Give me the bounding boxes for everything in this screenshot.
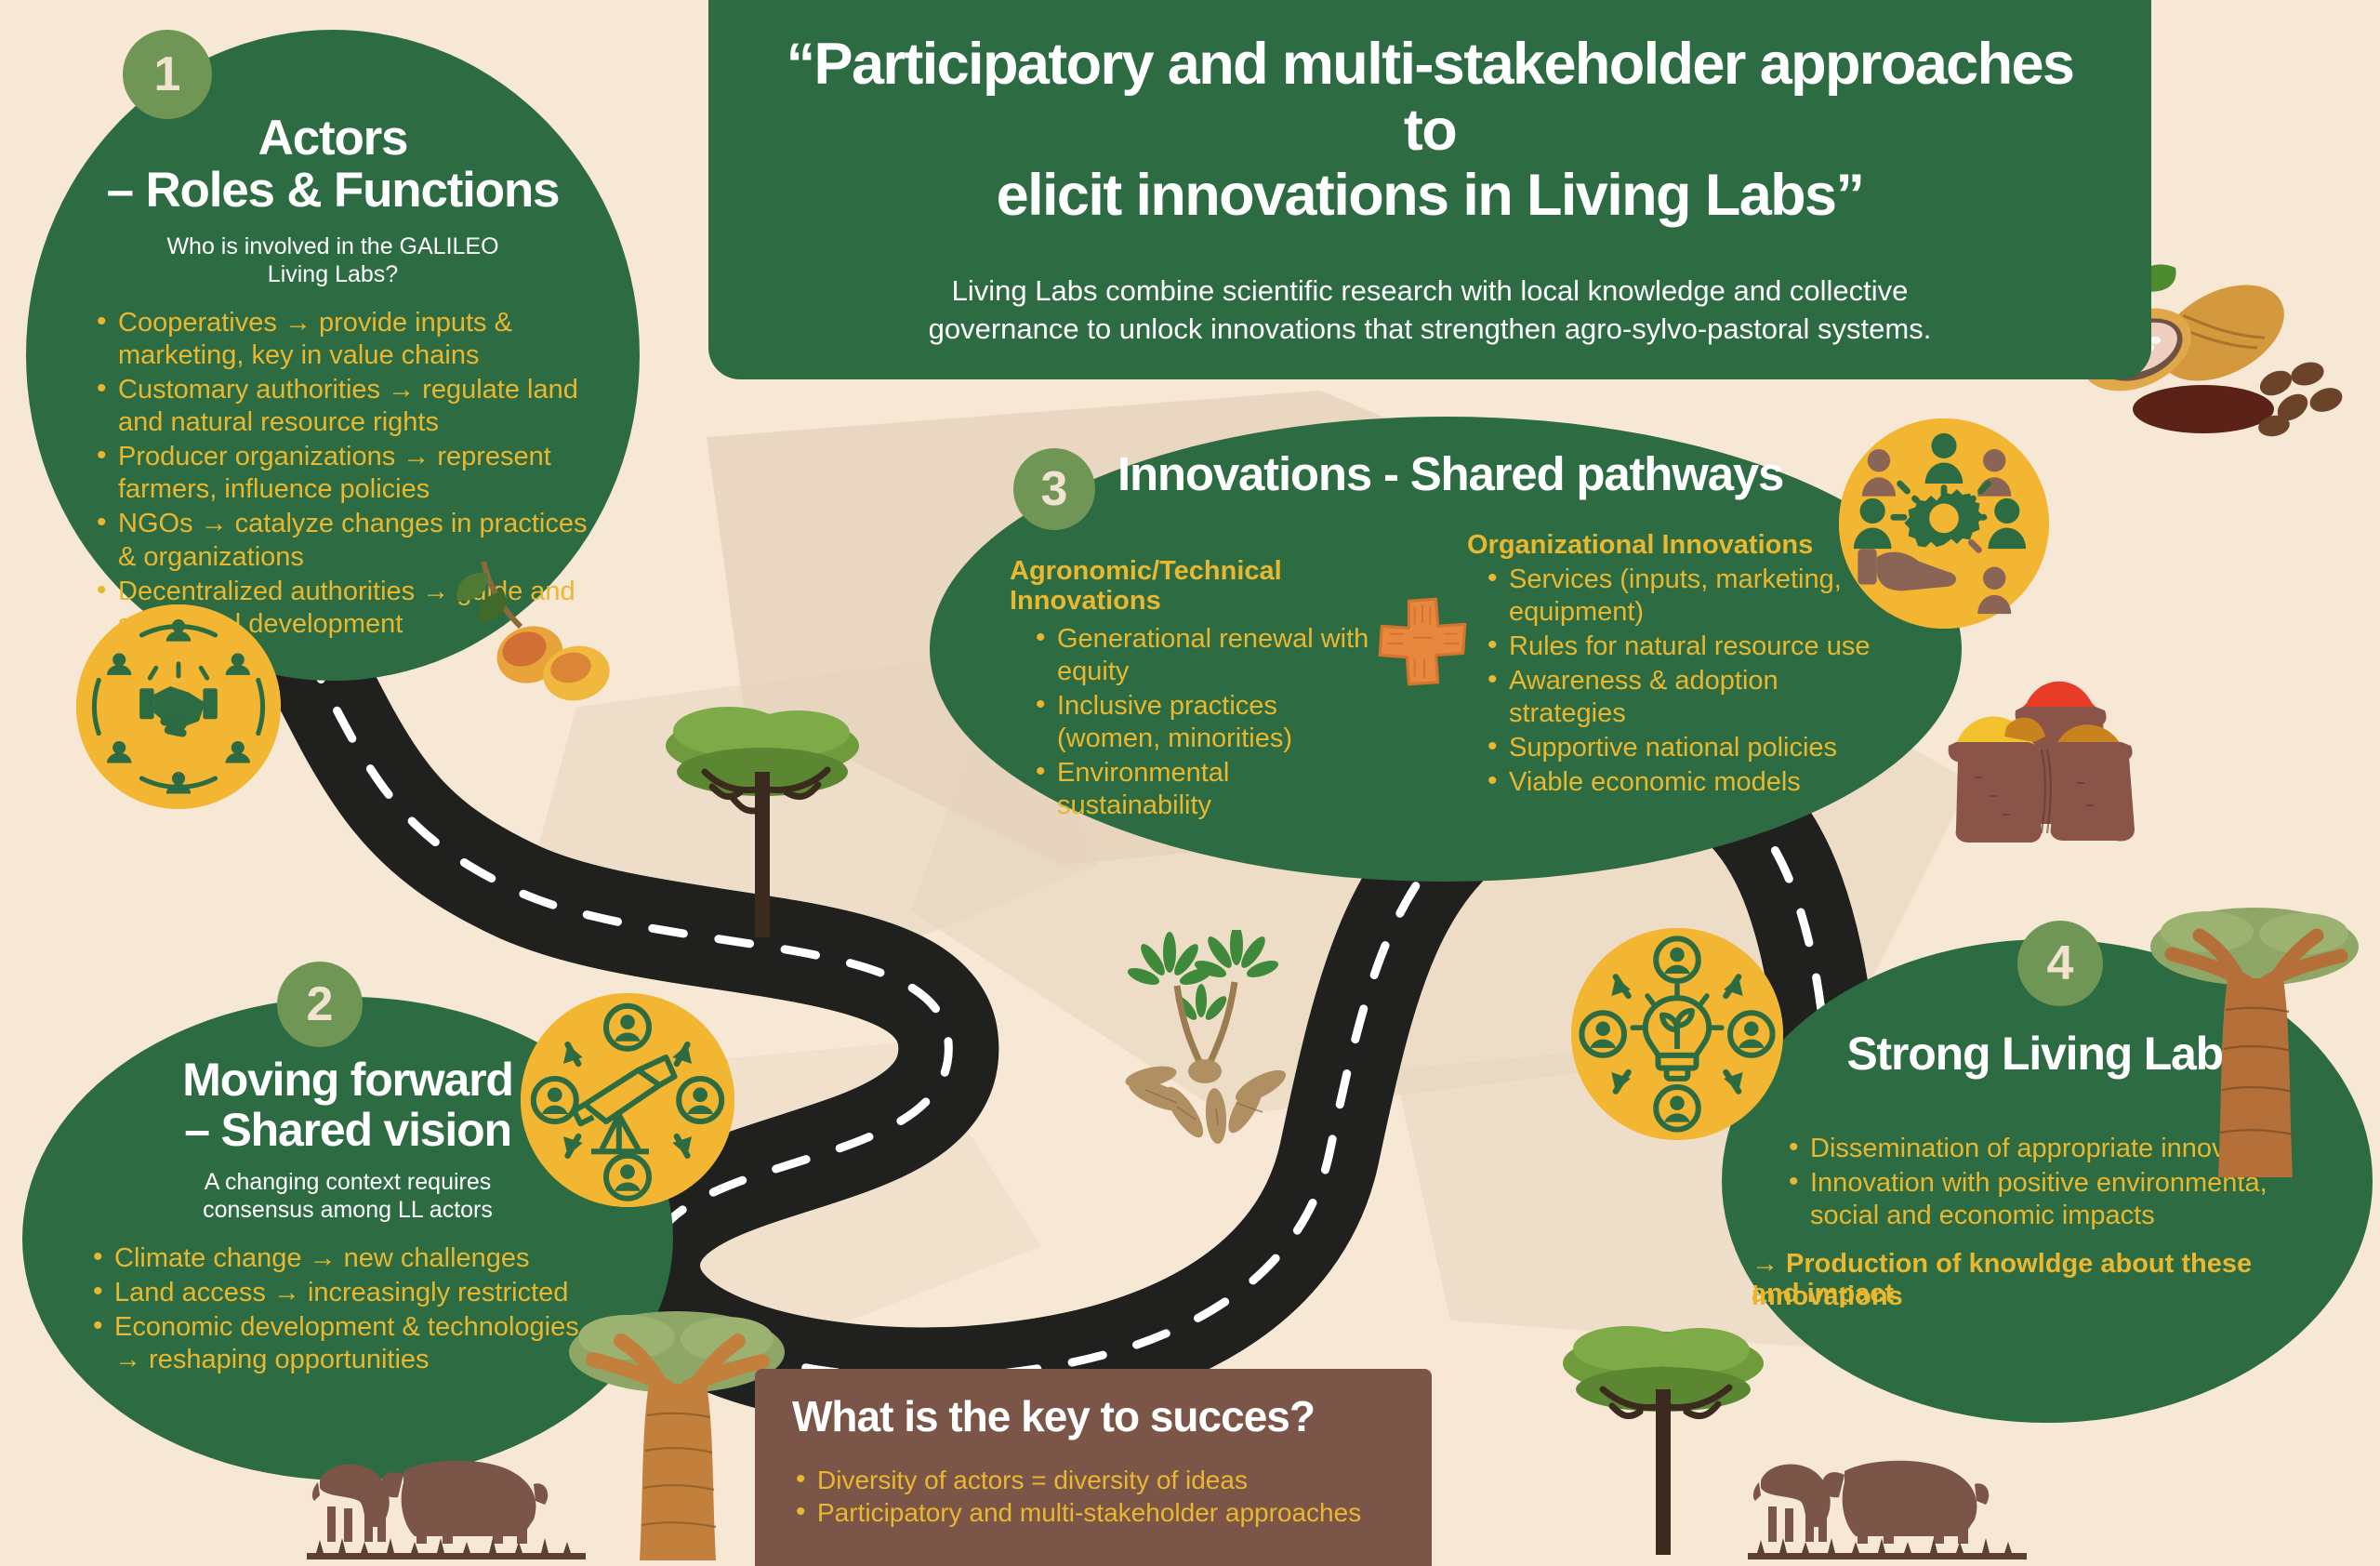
list-item: Climate change → new challenges — [89, 1242, 610, 1275]
header-subtitle-line2: governance to unlock innovations that st… — [766, 310, 2094, 348]
section-4-highlight-line2: and impact — [1752, 1278, 2347, 1310]
list-item: Customary authorities → regulate land an… — [93, 374, 595, 439]
list-item: Environmental sustainability — [1032, 757, 1376, 822]
handshake-network-icon — [76, 604, 281, 809]
list-item: Cooperatives → provide inputs & marketin… — [93, 307, 595, 372]
section-4-number-badge: 4 — [2017, 921, 2103, 1006]
section-3-left-points: Generational renewal with equity Inclusi… — [1032, 623, 1376, 824]
section-3-right-points: Services (inputs, marketing, equipment) … — [1484, 564, 1874, 802]
list-item: Participatory and multi-stakeholder appr… — [792, 1497, 1395, 1529]
key-box-title: What is the key to succes? — [792, 1393, 1395, 1440]
section-3-number-badge: 3 — [1013, 448, 1095, 530]
list-item: Services (inputs, marketing, equipment) — [1484, 564, 1874, 629]
section-1-number-badge: 1 — [123, 30, 212, 119]
baobab-tree-illustration — [2138, 893, 2371, 1181]
list-item: Economic development & technologies → re… — [89, 1311, 610, 1376]
header-banner: “Participatory and multi-stakeholder app… — [708, 0, 2151, 379]
cattle-grazing-illustration — [1748, 1443, 2027, 1566]
section-1-title-line2: – Roles & Functions — [26, 164, 640, 217]
list-item: Diversity of actors = diversity of ideas — [792, 1465, 1395, 1496]
header-title-line1: “Participatory and multi-stakeholder app… — [766, 32, 2094, 163]
list-item: Awareness & adoption strategies — [1484, 665, 1874, 730]
section-3-left-heading-line1: Agronomic/Technical — [1010, 556, 1335, 587]
cassava-plant-illustration — [1097, 930, 1311, 1153]
list-item: Viable economic models — [1484, 766, 1874, 799]
telescope-network-icon — [521, 993, 734, 1207]
lightbulb-network-icon — [1571, 928, 1783, 1140]
section-1-number: 1 — [154, 46, 181, 102]
list-item: Land access → increasingly restricted — [89, 1277, 610, 1309]
cattle-grazing-illustration — [307, 1443, 586, 1566]
gear-people-hand-icon — [1839, 418, 2049, 629]
section-4-number: 4 — [2047, 936, 2074, 991]
section-2-number: 2 — [307, 976, 334, 1032]
section-3-number: 3 — [1041, 461, 1068, 517]
orange-plus-icon — [1374, 593, 1471, 690]
header-subtitle-line1: Living Labs combine scientific research … — [766, 272, 2094, 310]
header-title-line2: elicit innovations in Living Labs” — [766, 163, 2094, 229]
section-1-subtitle-line1: Who is involved in the GALILEO — [26, 232, 640, 261]
list-item: Inclusive practices (women, minorities) — [1032, 690, 1376, 755]
infographic-canvas: “Participatory and multi-stakeholder app… — [0, 0, 2380, 1566]
list-item: Producer organizations → represent farme… — [93, 441, 595, 506]
section-3-title: Innovations - Shared pathways — [1117, 448, 1936, 499]
section-1-subtitle-line2: Living Labs? — [26, 260, 640, 289]
acacia-tree-illustration — [1547, 1302, 1779, 1566]
section-1-title-line1: Actors — [26, 112, 640, 165]
section-2-number-badge: 2 — [277, 962, 363, 1047]
key-box-points: Diversity of actors = diversity of ideas… — [792, 1465, 1395, 1530]
section-2-points: Climate change → new challenges Land acc… — [89, 1242, 610, 1378]
spice-sacks-illustration — [1937, 666, 2216, 843]
mango-branch-illustration — [430, 554, 625, 722]
list-item: Rules for natural resource use — [1484, 630, 1874, 663]
section-3-left-heading-line2: Innovations — [1010, 586, 1335, 617]
list-item: Generational renewal with equity — [1032, 623, 1376, 688]
section-3-right-heading: Organizational Innovations — [1467, 530, 1867, 561]
acacia-tree-illustration — [651, 679, 874, 949]
key-to-success-box: What is the key to succes? Diversity of … — [755, 1369, 1432, 1566]
list-item: Supportive national policies — [1484, 732, 1874, 764]
